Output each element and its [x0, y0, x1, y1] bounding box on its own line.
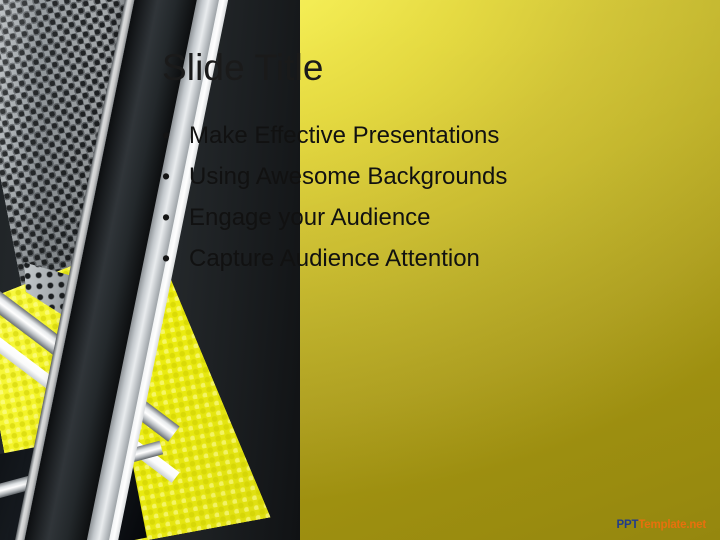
slide-content: Slide Title • Make Effective Presentatio…	[0, 0, 720, 540]
bullet-marker-icon: •	[162, 156, 189, 197]
watermark-ppt-text: PPT	[617, 519, 639, 531]
bullet-marker-icon: •	[162, 197, 189, 238]
bullet-item[interactable]: • Engage your Audience	[162, 197, 632, 238]
watermark-template-text: Template.net	[638, 519, 706, 531]
watermark[interactable]: PPTTemplate.net	[617, 520, 706, 532]
bullet-item[interactable]: • Capture Audience Attention	[162, 238, 632, 279]
bullet-text: Capture Audience Attention	[189, 238, 480, 279]
bullet-item[interactable]: • Using Awesome Backgrounds	[162, 156, 632, 197]
slide-title[interactable]: Slide Title	[162, 48, 324, 89]
bullet-text: Engage your Audience	[189, 197, 431, 238]
bullet-list: • Make Effective Presentations • Using A…	[162, 115, 632, 279]
bullet-marker-icon: •	[162, 115, 189, 156]
bullet-item[interactable]: • Make Effective Presentations	[162, 115, 632, 156]
bullet-text: Using Awesome Backgrounds	[189, 156, 507, 197]
bullet-text: Make Effective Presentations	[189, 115, 499, 156]
presentation-slide: Slide Title • Make Effective Presentatio…	[0, 0, 720, 540]
bullet-marker-icon: •	[162, 238, 189, 279]
